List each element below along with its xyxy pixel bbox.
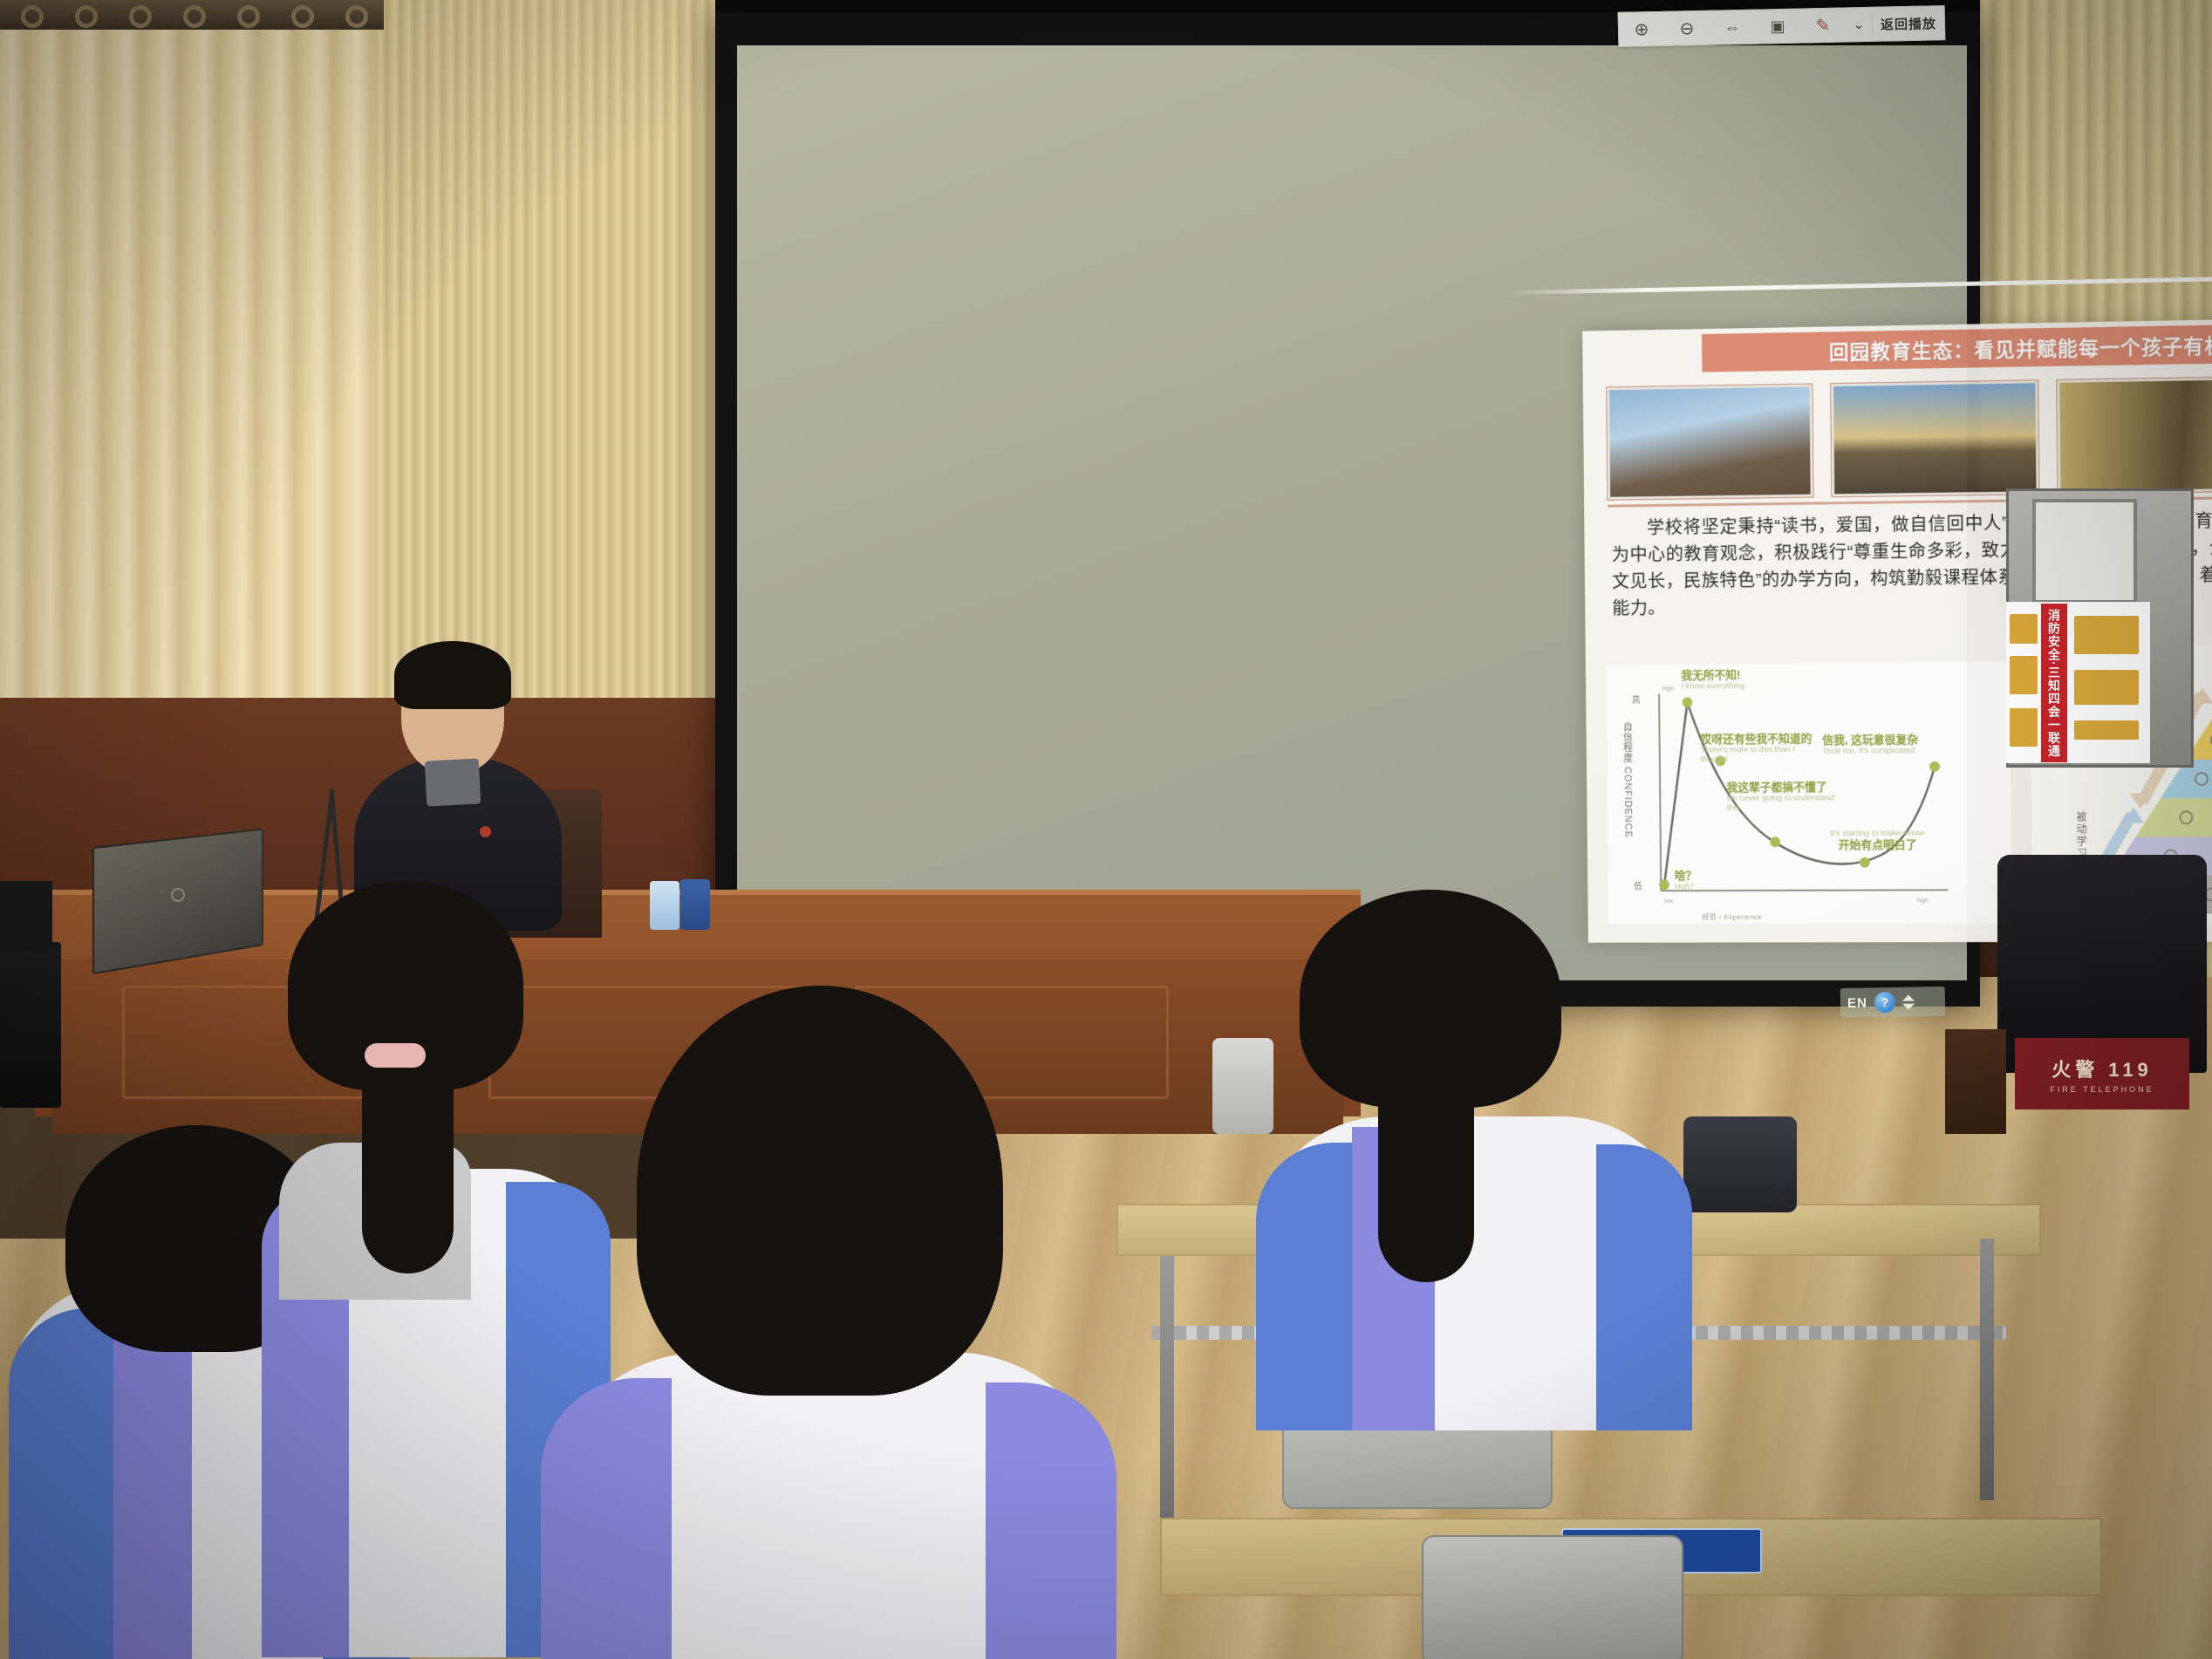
zoom-in-icon[interactable]: ⊕ — [1619, 12, 1665, 46]
svg-text:high: high — [1917, 898, 1929, 904]
student-chair — [1422, 1535, 1683, 1659]
curve-y-axis-label: 自信程度 CONFIDENCE — [1620, 721, 1635, 837]
zoom-out-icon[interactable]: ⊖ — [1664, 11, 1710, 45]
student-1-uniform-stripe — [9, 1308, 122, 1659]
student-3 — [523, 986, 1134, 1659]
help-icon[interactable]: ? — [1874, 992, 1895, 1013]
student-3-hair — [637, 986, 1003, 1396]
av-equipment-rack — [0, 881, 52, 951]
fire-safety-poster-title: 消防安全·三知四会一联通 — [2041, 604, 2067, 762]
slide-photo-row — [1607, 373, 2212, 500]
laptop — [94, 837, 269, 959]
svg-text:high: high — [1662, 686, 1674, 693]
curve-annotation-3: 我这辈子都搞不懂了 I'm never going to understand … — [1726, 781, 1838, 813]
student-4-uniform-stripe — [1596, 1144, 1692, 1430]
desk-leg — [1160, 1256, 1174, 1544]
return-to-playback-button[interactable]: 返回播放 — [1873, 6, 1945, 41]
laptop-logo — [171, 888, 185, 902]
fire-sign-en-text: FIRE TELEPHONE — [2050, 1085, 2154, 1094]
student-4-uniform-stripe — [1256, 1143, 1361, 1430]
curve-axis-high-label: 高 — [1632, 693, 1641, 706]
student-3-uniform-stripe — [986, 1382, 1116, 1659]
curtain-ring — [345, 5, 368, 28]
pdf-viewer-toolbar[interactable]: ⊕ ⊖ ⇔ ▣ ✎ ⌄ 返回播放 — [1618, 5, 1946, 47]
curve-annotation-1: 我无所不知! I know everything — [1681, 669, 1744, 692]
photo-campus-building-sky — [1607, 384, 1813, 499]
fire-emergency-sign: 火警 119 FIRE TELEPHONE — [2015, 1038, 2189, 1109]
poster-chip — [2010, 708, 2038, 747]
poster-chip — [2010, 614, 2038, 644]
student-2-hair-tie — [365, 1043, 426, 1068]
fit-page-icon[interactable]: ▣ — [1755, 10, 1801, 44]
curtain-ring — [129, 5, 152, 28]
screenshot-root: 回园教育生态：看见并赋能每一个孩子有机成长 学校将坚定秉持“读书，爱国，做自信回… — [0, 0, 2212, 1659]
ime-language-bar[interactable]: EN ? — [1840, 987, 1946, 1018]
projector-screen-surface: 回园教育生态：看见并赋能每一个孩子有机成长 学校将坚定秉持“读书，爱国，做自信回… — [737, 45, 1967, 980]
photo-campus-road-sunset — [1831, 380, 2039, 496]
poster-chip — [2074, 616, 2139, 654]
water-bottle — [680, 879, 710, 930]
student-3-uniform-stripe — [541, 1378, 672, 1659]
curve-annotation-2: 哎呀还有些我不知道的 There's more to this than I t… — [1701, 733, 1821, 765]
student-4 — [1247, 890, 1701, 1430]
presenter-badge — [480, 826, 491, 837]
chevron-down-icon[interactable]: ⌄ — [1846, 8, 1873, 42]
water-bottle — [650, 881, 679, 930]
slide-title-banner: 回园教育生态：看见并赋能每一个孩子有机成长 — [1702, 322, 2212, 372]
curtain-ring — [237, 5, 260, 28]
wooden-bench — [1945, 1029, 2006, 1134]
poster-chip — [2074, 720, 2139, 740]
curve-annotation-4: It's starting to make sense 开始有点明白了 — [1826, 829, 1929, 852]
pyramid-passive-learning-label: 被动学习 — [2074, 811, 2090, 860]
student-4-ponytail — [1378, 1064, 1474, 1282]
ime-language-label[interactable]: EN — [1847, 995, 1867, 1010]
av-speaker — [0, 942, 61, 1108]
curve-watermark: 经验 / Experience — [1702, 912, 1762, 922]
fit-width-icon[interactable]: ⇔ — [1710, 10, 1756, 44]
desk-leg — [1980, 1239, 1994, 1500]
presenter-collar — [425, 758, 481, 806]
curtain-ring — [75, 5, 98, 28]
curtain-ring — [21, 5, 44, 28]
cabinet-glass-panel — [2032, 499, 2137, 604]
photo-campus-corridor — [2057, 377, 2212, 494]
student-2-ponytail — [362, 1047, 454, 1273]
curtain-ring — [291, 5, 314, 28]
curve-annotation-5: 信我, 这玩意很复杂 Trust me, it's complicated — [1822, 734, 1943, 757]
fire-safety-poster-title-text: 消防安全·三知四会一联通 — [2045, 609, 2063, 758]
poster-chip — [2074, 670, 2139, 705]
curtain-ring — [183, 5, 206, 28]
chevron-updown-icon[interactable] — [1902, 994, 1915, 1009]
dunning-kruger-chart: high low high 高 低 自信程度 CONFIDENCE 我无所不知!… — [1606, 661, 2012, 924]
presenter-hair — [394, 641, 511, 709]
poster-chip — [2010, 656, 2038, 694]
pen-icon[interactable]: ✎ — [1800, 8, 1847, 42]
fire-sign-cn-text: 火警 119 — [2052, 1055, 2153, 1082]
fire-safety-poster — [2006, 602, 2150, 763]
